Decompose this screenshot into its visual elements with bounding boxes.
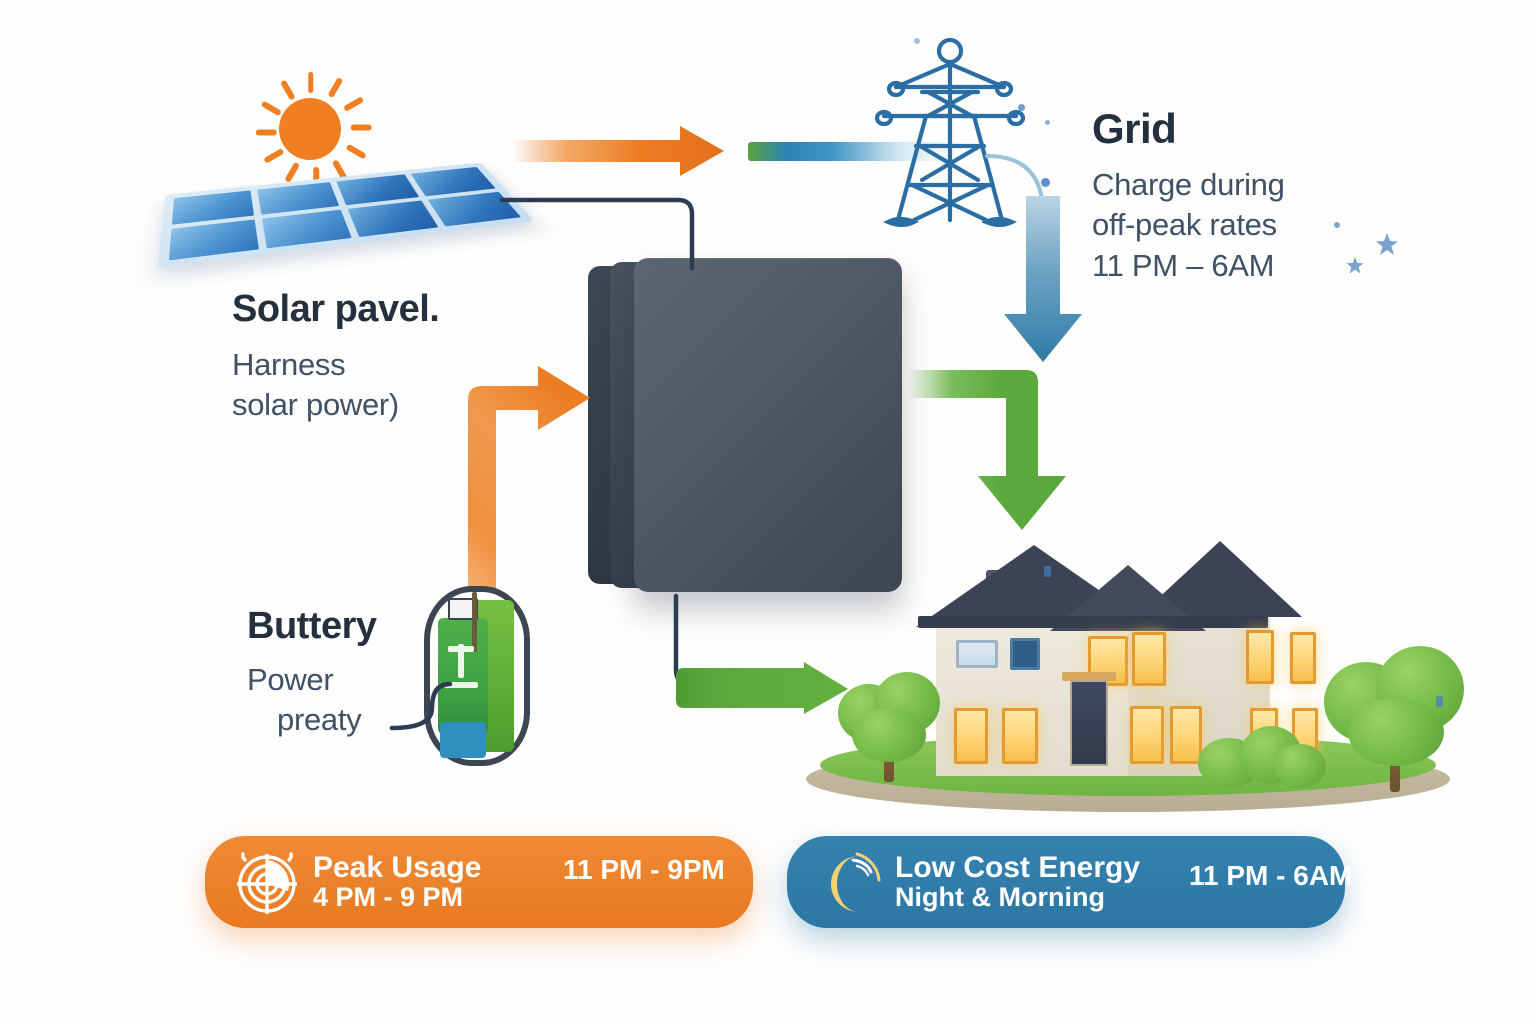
grid-sub-line3: 11 PM – 6AM [1092,246,1285,286]
battery-label-group: Buttery Power preaty [247,605,377,741]
shrub [1198,720,1328,794]
house-window [1002,708,1038,764]
house-window [1132,632,1166,686]
peak-usage-heading: Peak Usage [313,852,481,883]
house-door [1070,680,1108,766]
house-icon [798,520,1458,820]
house-window [1290,632,1316,684]
grid-label-group: Grid Charge during off-peak rates 11 PM … [1092,105,1285,286]
peak-usage-subheading: 4 PM - 9 PM [313,883,481,913]
house-window [1010,638,1040,670]
solar-label-group: Solar pavel. Harness solar power) [232,288,439,426]
house-window [1246,630,1274,684]
solar-title: Solar pavel. [232,288,439,331]
battery-label-curve [388,682,454,738]
solar-sub-line1: Harness [232,345,439,385]
battery-icon [418,582,538,772]
tree-right [1318,628,1468,788]
battery-title: Buttery [247,605,377,648]
low-cost-energy-heading: Low Cost Energy [895,852,1140,883]
decorative-dot [1045,120,1050,125]
peak-usage-badge[interactable]: Peak Usage 4 PM - 9 PM 11 PM - 9PM [205,836,753,928]
decorative-dot [1044,566,1051,577]
decorative-dot [1334,222,1340,228]
battery-sub-line1: Power [247,660,377,700]
low-cost-energy-time: 11 PM - 6AM [1189,860,1352,892]
grid-sub-line2: off-peak rates [1092,205,1285,245]
solar-sub-line2: solar power) [232,385,439,425]
moon-icon [813,846,885,918]
low-cost-energy-badge[interactable]: Low Cost Energy Night & Morning 11 PM - … [787,836,1345,928]
solar-panel-icon [168,145,518,270]
grid-sub-line1: Charge during [1092,165,1285,205]
battery-sub-line2: preaty [247,700,377,740]
battery-glyph [458,644,464,678]
decorative-dot [1436,696,1443,707]
star-icon [1374,232,1400,258]
infographic-canvas: Solar pavel. Harness solar power) [0,0,1536,1024]
blue-arrow-down [1004,196,1096,368]
decorative-dot [1018,104,1025,111]
low-cost-energy-subheading: Night & Morning [895,883,1140,913]
peak-usage-text: Peak Usage 4 PM - 9 PM [313,852,481,913]
radar-gauge-icon [231,846,303,918]
battery-terminal-rod [472,592,477,652]
solar-panel-frame [157,162,534,268]
grid-title: Grid [1092,105,1285,153]
decorative-dot [914,38,920,44]
house-window [956,640,998,668]
tree-left [828,660,948,780]
house-window [954,708,988,764]
low-cost-energy-text: Low Cost Energy Night & Morning [895,852,1140,913]
panel-to-unit-connector [500,192,700,272]
peak-usage-time: 11 PM - 9PM [563,854,725,886]
orange-arrow-right [512,126,752,186]
house-window [1130,706,1164,764]
orange-arrow-elbow [442,352,602,614]
star-icon [1345,256,1365,276]
house-roof-edge [918,616,1268,628]
green-arrow-elbow [908,368,1088,544]
